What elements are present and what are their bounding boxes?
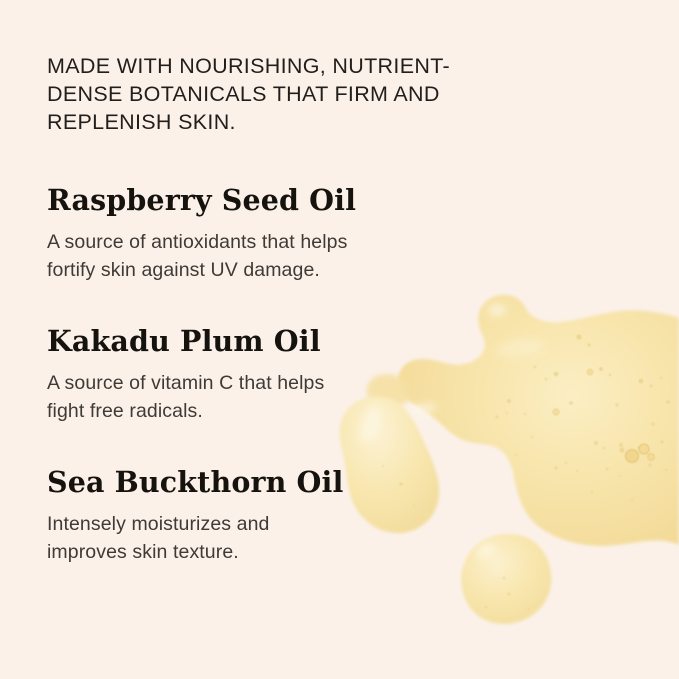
- ingredient-description: A source of vitamin C that helps fight f…: [47, 358, 447, 425]
- page-title: Made with nourishing, nutrient-dense bot…: [47, 0, 499, 136]
- ingredient-name: Sea Buckthorn Oil: [47, 465, 517, 499]
- ingredient-name: Raspberry Seed Oil: [47, 183, 517, 217]
- ingredient-description: A source of antioxidants that helps fort…: [47, 217, 447, 284]
- ingredient-name: Kakadu Plum Oil: [47, 324, 517, 358]
- text-content: Made with nourishing, nutrient-dense bot…: [47, 0, 517, 566]
- ingredients-infographic: Made with nourishing, nutrient-dense bot…: [0, 0, 679, 679]
- ingredient-block: Sea Buckthorn Oil Intensely moisturizes …: [47, 425, 517, 566]
- ingredient-description: Intensely moisturizes and improves skin …: [47, 499, 447, 566]
- ingredient-block: Kakadu Plum Oil A source of vitamin C th…: [47, 284, 517, 425]
- ingredient-block: Raspberry Seed Oil A source of antioxida…: [47, 136, 517, 284]
